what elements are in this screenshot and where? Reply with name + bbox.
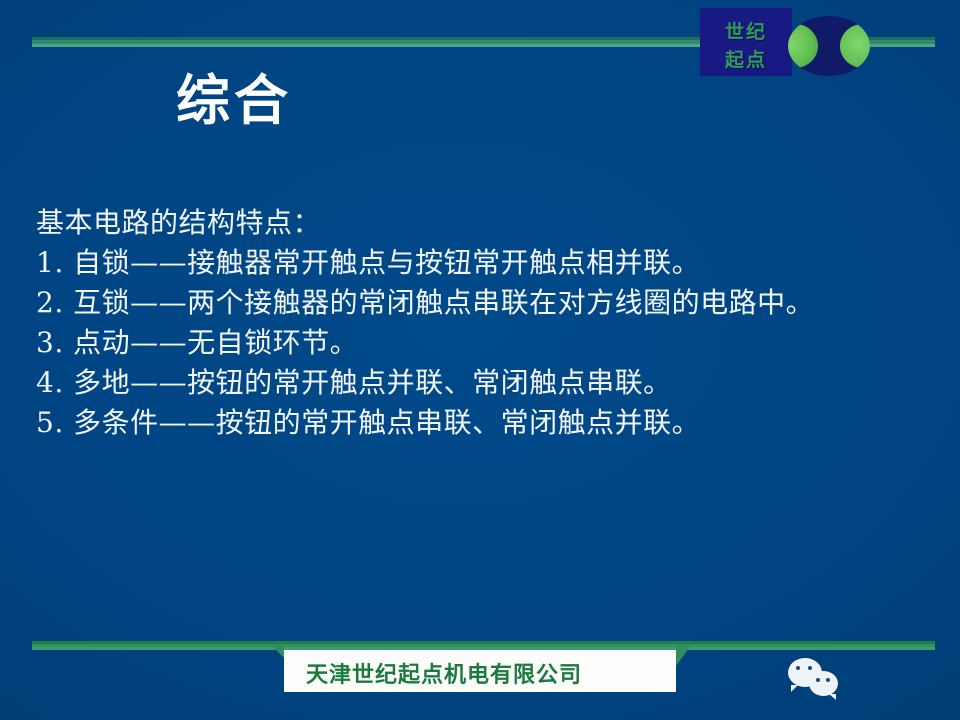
slide-title: 综合 xyxy=(176,70,292,132)
logo-text-line-1: 世纪 xyxy=(700,17,792,44)
wechat-bubble-small-icon xyxy=(809,671,838,696)
presentation-slide: 世纪 起点 综合 基本电路的结构特点： 1. 自锁——接触器常开触点与按钮常开触… xyxy=(0,0,960,720)
body-heading: 基本电路的结构特点： xyxy=(36,203,936,243)
footer-company-plaque: 天津世纪起点机电有限公司 xyxy=(284,650,676,692)
logo-lobe-right-icon xyxy=(840,24,870,68)
body-list-item-4: 4. 多地——按钮的常开触点并联、常闭触点串联。 xyxy=(36,363,936,403)
footer-company-name: 天津世纪起点机电有限公司 xyxy=(306,657,582,689)
body-list-item-3: 3. 点动——无自锁环节。 xyxy=(36,323,936,363)
wechat-bubble-large-eye-right xyxy=(808,666,812,670)
logo-ellipse-icon xyxy=(788,16,870,76)
bottom-divider-rule xyxy=(32,641,935,650)
wechat-bubble-small-eye-left xyxy=(816,678,820,682)
plaque-corner-triangle-left-icon xyxy=(270,644,284,658)
body-list-item-5: 5. 多条件——按钮的常开触点串联、常闭触点并联。 xyxy=(36,403,936,443)
logo-name-box: 世纪 起点 xyxy=(700,8,792,76)
plaque-corner-triangle-right-icon xyxy=(676,644,692,666)
wechat-icon xyxy=(788,658,852,708)
slide-body: 基本电路的结构特点： 1. 自锁——接触器常开触点与按钮常开触点相并联。 2. … xyxy=(36,203,936,443)
logo-text-line-2: 起点 xyxy=(700,45,792,72)
body-list-item-2: 2. 互锁——两个接触器的常闭触点串联在对方线圈的电路中。 xyxy=(36,283,936,323)
wechat-bubble-small-eye-right xyxy=(826,678,830,682)
logo-lobe-left-icon xyxy=(788,24,818,68)
corporate-logo: 世纪 起点 xyxy=(700,8,875,80)
body-list-item-1: 1. 自锁——接触器常开触点与按钮常开触点相并联。 xyxy=(36,243,936,283)
wechat-bubble-large-eye-left xyxy=(796,666,800,670)
